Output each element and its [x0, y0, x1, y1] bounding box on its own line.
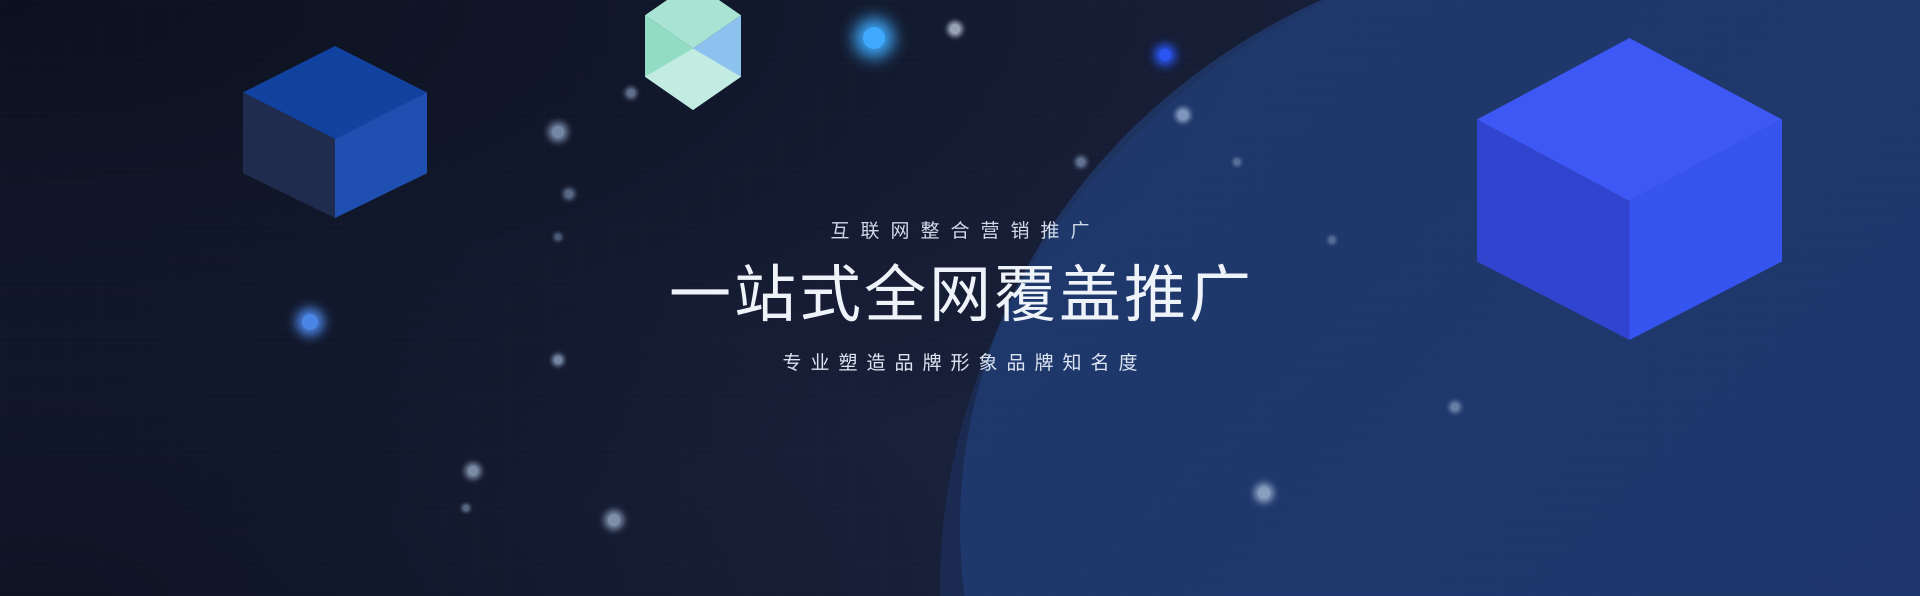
hero-eyebrow-text: 互联网整合营销推广 [0, 222, 1920, 241]
isometric-cube-left-icon [243, 46, 427, 218]
hero-subline-text: 专业塑造品牌形象品牌知名度 [0, 354, 1920, 373]
hero-banner: 互联网整合营销推广 一站式全网覆盖推广 专业塑造品牌形象品牌知名度 [0, 0, 1920, 596]
isometric-cube-mint-icon [645, 0, 741, 110]
hero-copy-block: 互联网整合营销推广 一站式全网覆盖推广 专业塑造品牌形象品牌知名度 [0, 222, 1920, 373]
hero-headline: 一站式全网覆盖推广 [0, 261, 1920, 330]
